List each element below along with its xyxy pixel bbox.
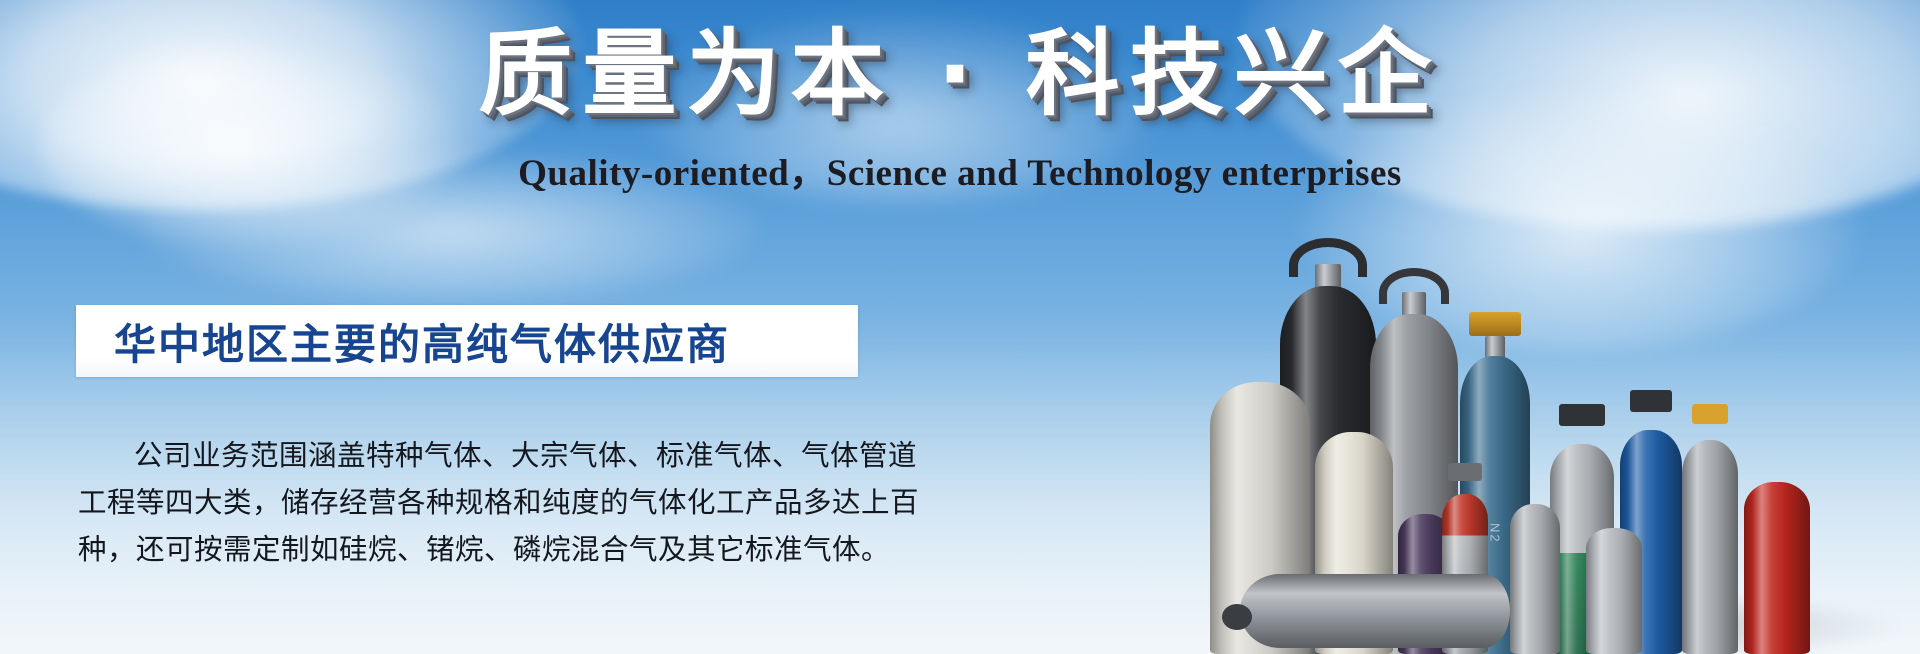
cylinder-body [1510, 504, 1560, 654]
promotional-banner: 质量为本 · 科技兴企 Quality-oriented，Science and… [0, 0, 1920, 654]
cylinder-sheen [1240, 574, 1510, 648]
callout-box: 华中地区主要的高纯气体供应商 [76, 305, 858, 377]
aluminium-front-cylinder [1586, 528, 1642, 654]
aluminium-cylinder [1682, 422, 1738, 654]
valve-body [1222, 604, 1252, 630]
cylinder-neck [1485, 336, 1505, 358]
aluminium-short-cylinder [1510, 504, 1560, 654]
red-short-cylinder [1744, 482, 1810, 654]
cylinder-valve [1630, 390, 1672, 412]
callout-text: 华中地区主要的高纯气体供应商 [76, 311, 730, 372]
lying-cylinder-valve [1222, 604, 1252, 630]
banner-headline: 质量为本 · 科技兴企 [0, 24, 1920, 126]
cylinder-sheen [1682, 440, 1738, 654]
cylinder-body [1682, 440, 1738, 654]
lying-grey-cylinder [1240, 574, 1510, 648]
cylinder-label: N2 [1488, 523, 1503, 544]
gas-cylinder-group: N2 [1220, 134, 1920, 654]
cylinder-sheen [1586, 528, 1642, 654]
paragraph-line-2: 工程等四大类，储存经营各种规格和纯度的气体化工产品多达上百 [78, 479, 868, 526]
cylinder-valve [1559, 404, 1605, 426]
cylinder-sheen [1510, 504, 1560, 654]
cylinder-body [1586, 528, 1642, 654]
paragraph-line-3: 种，还可按需定制如硅烷、锗烷、磷烷混合气及其它标准气体。 [78, 526, 868, 573]
paragraph-line-1: 公司业务范围涵盖特种气体、大宗气体、标准气体、气体管道 [78, 432, 868, 479]
cylinder-valve [1692, 404, 1728, 424]
cylinder-valve [1469, 312, 1521, 336]
cylinder-valve [1448, 463, 1482, 481]
cylinder-sheen [1744, 482, 1810, 654]
description-paragraph: 公司业务范围涵盖特种气体、大宗气体、标准气体、气体管道 工程等四大类，储存经营各… [78, 432, 868, 573]
cylinder-neck [1402, 292, 1426, 316]
cylinder-body [1744, 482, 1810, 654]
